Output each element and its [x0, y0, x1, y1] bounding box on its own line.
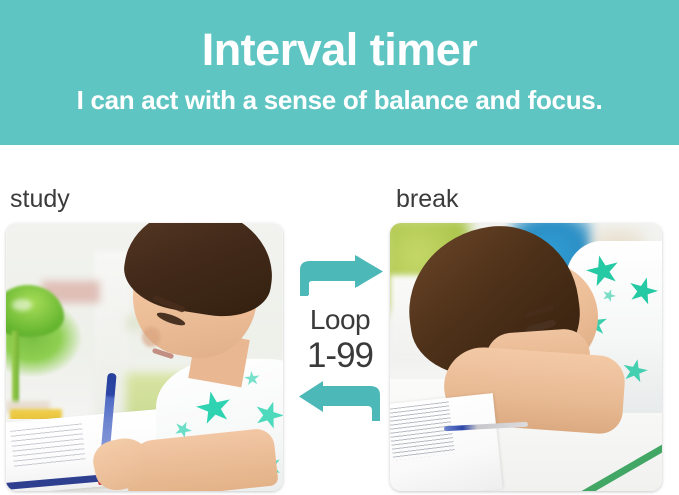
break-photo	[390, 223, 662, 491]
study-book-text-lines	[10, 423, 86, 468]
arrow-right-icon	[297, 255, 383, 299]
loop-text-group: Loop 1-99	[307, 303, 373, 376]
header-banner: Interval timer I can act with a sense of…	[0, 0, 679, 145]
page-subtitle: I can act with a sense of balance and fo…	[77, 84, 603, 116]
break-photo-inner	[390, 223, 662, 491]
loop-indicator: Loop 1-99	[290, 255, 390, 445]
study-photo-inner	[6, 223, 283, 491]
study-label: study	[10, 184, 70, 214]
interval-timer-promo-page: Interval timer I can act with a sense of…	[0, 0, 679, 495]
break-label: break	[396, 184, 459, 214]
loop-word-label: Loop	[307, 303, 373, 336]
arrow-left-icon	[297, 380, 383, 424]
study-boy-nose	[142, 327, 160, 347]
loop-range-value: 1-99	[307, 336, 373, 376]
page-title: Interval timer	[202, 24, 478, 76]
study-photo	[6, 223, 283, 491]
study-lamp-highlight	[12, 299, 32, 311]
